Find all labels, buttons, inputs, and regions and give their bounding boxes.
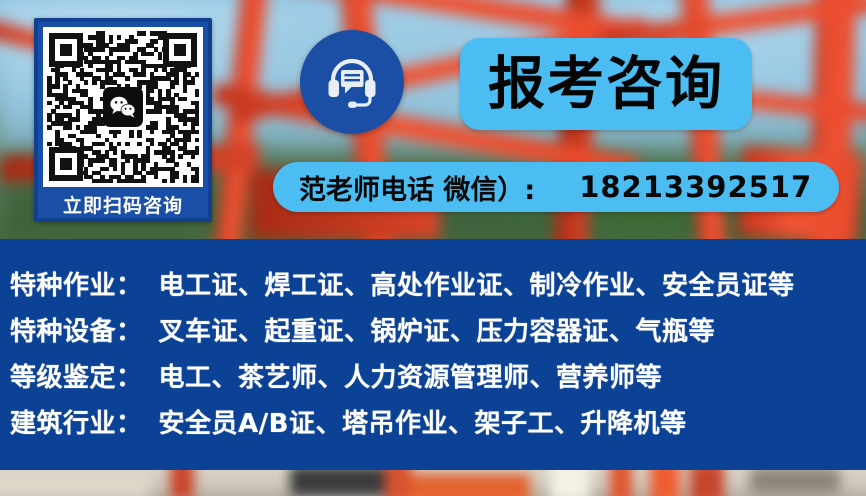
info-row-special-equipment: 特种设备： 叉车证、起重证、锅炉证、压力容器证、气瓶等	[10, 311, 866, 357]
info-row-special-operations: 特种作业： 电工证、焊工证、高处作业证、制冷作业、安全员证等	[10, 265, 866, 311]
headset-support-icon[interactable]	[300, 30, 404, 134]
qr-caption: 立即扫码咨询	[43, 187, 203, 221]
promo-banner: 立即扫码咨询 报考咨询 范老师电话 微信）: 18213392517 特种作业：…	[0, 0, 866, 496]
headline-text: 报考咨询	[488, 56, 724, 113]
qr-finder-bottom-left	[49, 147, 83, 181]
qr-finder-top-right	[163, 33, 197, 67]
bottom-photo-strip	[0, 470, 866, 496]
qr-code-image[interactable]	[43, 27, 203, 187]
info-row-construction-industry: 建筑行业： 安全员A/B证、塔吊作业、架子工、升降机等	[10, 403, 866, 449]
qr-finder-top-left	[49, 33, 83, 67]
info-value-text: 叉车证、起重证、锅炉证、压力容器证、气瓶等	[159, 311, 716, 348]
headline-badge[interactable]: 报考咨询	[460, 38, 752, 130]
info-value-text: 安全员A/B证、塔吊作业、架子工、升降机等	[159, 403, 687, 440]
certification-list-band: 特种作业： 电工证、焊工证、高处作业证、制冷作业、安全员证等 特种设备： 叉车证…	[0, 239, 866, 470]
info-category-label: 建筑行业：	[10, 403, 143, 440]
qr-code-panel[interactable]: 立即扫码咨询	[34, 18, 212, 222]
info-category-label: 特种作业：	[10, 265, 143, 302]
contact-phone-badge[interactable]: 范老师电话 微信）: 18213392517	[273, 162, 839, 212]
info-category-label: 特种设备：	[10, 311, 143, 348]
bottom-strip-blur	[0, 470, 866, 496]
contact-label: 范老师电话 微信）:	[299, 168, 535, 207]
info-value-text: 电工、茶艺师、人力资源管理师、营养师等	[159, 357, 663, 394]
contact-phone-number[interactable]: 18213392517	[579, 170, 812, 204]
info-category-label: 等级鉴定：	[10, 357, 143, 394]
wechat-icon	[103, 87, 143, 127]
info-value-text: 电工证、焊工证、高处作业证、制冷作业、安全员证等	[159, 265, 795, 302]
info-row-grade-assessment: 等级鉴定： 电工、茶艺师、人力资源管理师、营养师等	[10, 357, 866, 403]
